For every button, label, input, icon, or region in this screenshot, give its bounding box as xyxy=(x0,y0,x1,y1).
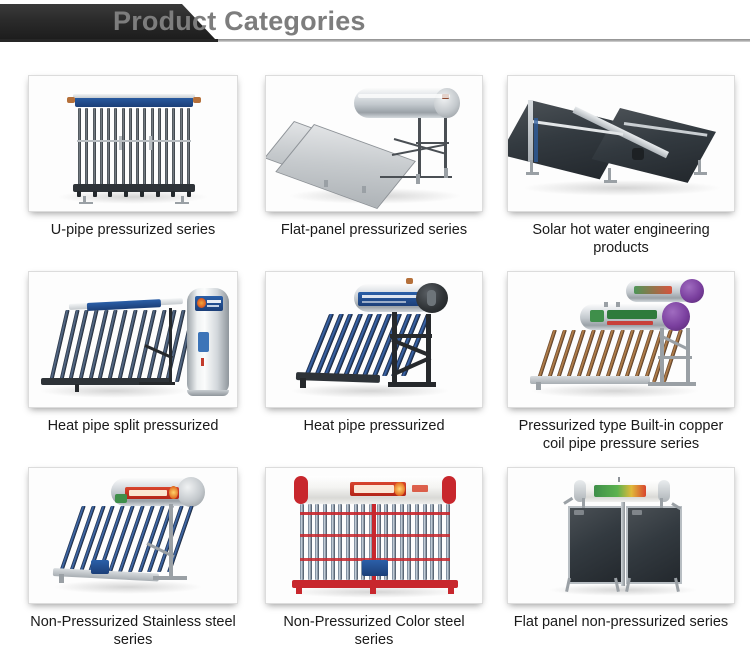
product-thumbnail-engineering-array[interactable] xyxy=(507,75,735,212)
header-divider-rule-dark xyxy=(0,39,218,42)
grid-row: U-pipe pressurized series xyxy=(0,52,750,257)
artwork-u-pipe-collector xyxy=(29,76,237,211)
product-thumbnail-flat-panel-non-pressurized[interactable] xyxy=(507,467,735,604)
product-thumbnail-heat-pipe-split[interactable] xyxy=(28,271,238,408)
product-category-card[interactable]: Flat-panel pressurized series xyxy=(253,52,495,257)
product-category-card[interactable]: Flat panel non-pressurized series xyxy=(495,453,750,649)
artwork-heat-pipe-pressurized xyxy=(266,272,482,407)
product-category-caption: U-pipe pressurized series xyxy=(28,221,238,239)
page-header: Product Categories xyxy=(0,0,750,52)
product-category-card[interactable]: Solar hot water engineering products xyxy=(495,52,750,257)
product-category-card[interactable]: Heat pipe pressurized xyxy=(253,257,495,453)
grid-row: Non-Pressurized Stainless steel series xyxy=(0,453,750,649)
product-category-grid: U-pipe pressurized series xyxy=(0,52,750,649)
product-category-caption: Non-Pressurized Stainless steel series xyxy=(28,613,238,649)
product-category-caption: Pressurized type Built-in copper coil pi… xyxy=(507,417,735,453)
artwork-heat-pipe-split xyxy=(29,272,237,407)
product-thumbnail-heat-pipe-pressurized[interactable] xyxy=(265,271,483,408)
artwork-flat-panel-non-pressurized xyxy=(508,468,734,603)
product-category-caption: Flat panel non-pressurized series xyxy=(507,613,735,631)
page-title: Product Categories xyxy=(113,3,366,39)
artwork-flat-panel-pressurized xyxy=(266,76,482,211)
grid-row: Heat pipe split pressurized xyxy=(0,257,750,453)
product-thumbnail-copper-coil[interactable] xyxy=(507,271,735,408)
product-category-caption: Heat pipe pressurized xyxy=(265,417,483,435)
artwork-non-pressurized-color-steel xyxy=(266,468,482,603)
product-category-caption: Heat pipe split pressurized xyxy=(28,417,238,435)
product-thumbnail-flat-panel-pressurized[interactable] xyxy=(265,75,483,212)
product-category-card[interactable]: Pressurized type Built-in copper coil pi… xyxy=(495,257,750,453)
product-category-card[interactable]: U-pipe pressurized series xyxy=(0,52,253,257)
product-category-caption: Non-Pressurized Color steel series xyxy=(265,613,483,649)
product-thumbnail-color-steel[interactable] xyxy=(265,467,483,604)
product-category-card[interactable]: Non-Pressurized Color steel series xyxy=(253,453,495,649)
product-thumbnail-u-pipe[interactable] xyxy=(28,75,238,212)
product-category-caption: Solar hot water engineering products xyxy=(507,221,735,257)
product-thumbnail-stainless-steel[interactable] xyxy=(28,467,238,604)
artwork-engineering-array xyxy=(508,76,734,211)
product-category-card[interactable]: Heat pipe split pressurized xyxy=(0,257,253,453)
product-category-caption: Flat-panel pressurized series xyxy=(265,221,483,239)
artwork-copper-coil-twin-tank xyxy=(508,272,734,407)
product-category-card[interactable]: Non-Pressurized Stainless steel series xyxy=(0,453,253,649)
artwork-non-pressurized-stainless xyxy=(29,468,237,603)
